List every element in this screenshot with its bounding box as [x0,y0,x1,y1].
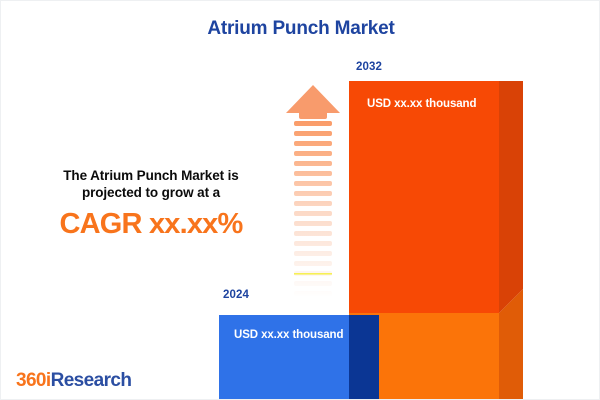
cagr-value: CAGR xx.xx% [23,208,279,240]
bar-2024 [219,315,379,400]
page-title: Atrium Punch Market [1,18,600,40]
value-label-2032: USD xx.xx thousand [367,98,476,110]
logo-360i-text: 360i [16,370,51,391]
year-label-2032: 2032 [356,61,382,73]
brand-logo: 360iResearch [16,370,131,392]
statement-line-2: projected to grow at a [23,184,279,201]
value-label-2024: USD xx.xx thousand [234,329,343,341]
growth-arrow-icon [282,83,344,298]
cagr-statement-block: The Atrium Punch Market is projected to … [23,167,279,240]
logo-research-text: Research [51,370,132,391]
statement-line-1: The Atrium Punch Market is [23,167,279,184]
infographic-canvas: Atrium Punch Market The Atrium Punch Mar… [0,0,600,400]
year-label-2024: 2024 [223,289,249,301]
